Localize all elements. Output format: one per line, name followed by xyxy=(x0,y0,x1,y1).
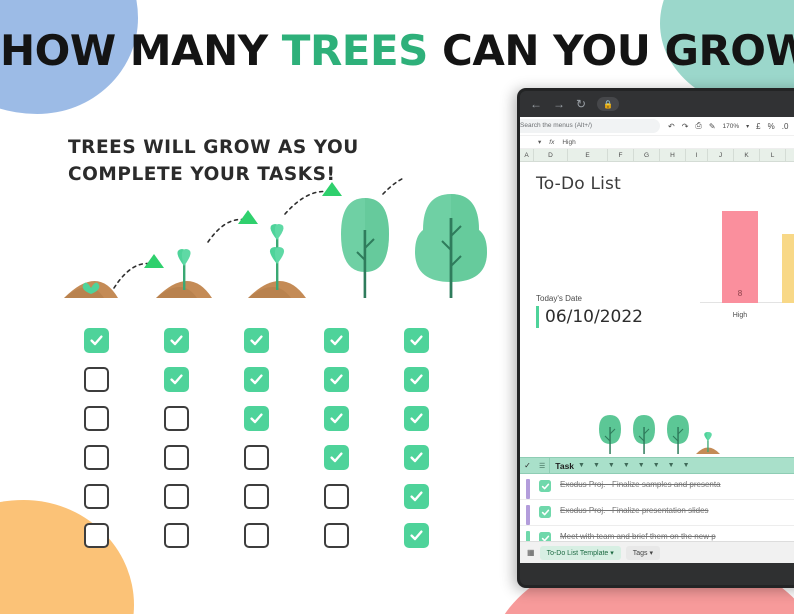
percent-icon[interactable]: % xyxy=(768,122,775,131)
task-priority-chart: Task 8HighM xyxy=(700,170,794,325)
checkbox-r2-c3[interactable] xyxy=(244,367,269,392)
filter-icon[interactable]: ▼ xyxy=(589,462,604,469)
checkbox-grid-row xyxy=(84,328,484,367)
seed-triangle-2-icon xyxy=(238,210,258,224)
filter-icon[interactable]: ▼ xyxy=(604,462,619,469)
arrow-4-icon xyxy=(383,178,428,194)
checkbox-r3-c4[interactable] xyxy=(324,406,349,431)
subtitle-line-1: TREES WILL GROW AS YOU xyxy=(68,134,359,161)
paint-format-icon[interactable]: ✎ xyxy=(709,122,716,131)
checkbox-grid[interactable] xyxy=(84,328,484,562)
checkbox-r5-c2[interactable] xyxy=(164,484,189,509)
chevron-down-icon[interactable]: ▾ xyxy=(746,123,749,130)
checkbox-r2-c4[interactable] xyxy=(324,367,349,392)
checkbox-r2-c2[interactable] xyxy=(164,367,189,392)
filter-icon[interactable]: ▼ xyxy=(679,462,694,469)
filter-icon[interactable]: ▼ xyxy=(574,462,589,469)
column-header-A[interactable]: A xyxy=(520,149,534,161)
stage-5-full-tree xyxy=(415,194,487,298)
row-task-text: Exodus Proj. Finalize samples and presen… xyxy=(560,479,721,490)
sheet-tab-tags[interactable]: Tags ▾ xyxy=(626,546,660,560)
stage-3-sprout-tall xyxy=(248,224,306,298)
column-header-I[interactable]: I xyxy=(686,149,708,161)
formula-bar[interactable]: ▾ fx High xyxy=(520,136,794,149)
lock-icon: 🔒 xyxy=(597,97,619,111)
column-header-F[interactable]: F xyxy=(608,149,634,161)
checkbox-grid-row xyxy=(84,367,484,406)
bar-value-label: 8 xyxy=(722,289,758,298)
column-header-L[interactable]: L xyxy=(760,149,786,161)
stage-4-young-tree xyxy=(341,198,389,298)
column-headers[interactable]: ADEFGHIJKL xyxy=(520,149,794,162)
column-header-H[interactable]: H xyxy=(660,149,686,161)
currency-icon[interactable]: £ xyxy=(756,122,760,131)
print-icon[interactable]: ⎙ xyxy=(695,121,701,131)
header-task-label: Task xyxy=(550,461,574,471)
checkbox-r6-c5[interactable] xyxy=(404,523,429,548)
bar-high: 8 xyxy=(722,211,758,303)
checkbox-grid-row xyxy=(84,484,484,523)
checkbox-r3-c5[interactable] xyxy=(404,406,429,431)
row-checkbox[interactable] xyxy=(539,506,551,518)
strip-tree-2 xyxy=(633,415,655,454)
spreadsheet-app: Search the menus (Alt+/) ↶ ↷ ⎙ ✎ 170% ▾ … xyxy=(520,117,794,563)
checkbox-r1-c4[interactable] xyxy=(324,328,349,353)
column-header-J[interactable]: J xyxy=(708,149,734,161)
redo-icon[interactable]: ↷ xyxy=(682,122,689,131)
checkbox-r6-c1[interactable] xyxy=(84,523,109,548)
tree-strip-svg xyxy=(520,412,794,457)
checkbox-r5-c1[interactable] xyxy=(84,484,109,509)
filter-icon[interactable]: ☰ xyxy=(535,462,549,470)
checkbox-r3-c3[interactable] xyxy=(244,406,269,431)
headline-highlight: TREES xyxy=(282,26,428,75)
name-box-caret-icon[interactable]: ▾ xyxy=(538,138,541,146)
row-task-text: Exodus Proj. Finalize presentation slide… xyxy=(560,505,709,516)
filter-icon[interactable]: ▼ xyxy=(619,462,634,469)
stage-1-seed-mound xyxy=(64,281,118,298)
stage-2-sprout xyxy=(156,249,212,298)
checkbox-r2-c5[interactable] xyxy=(404,367,429,392)
checkbox-r3-c2[interactable] xyxy=(164,406,189,431)
column-header-E[interactable]: E xyxy=(568,149,608,161)
checkbox-r1-c3[interactable] xyxy=(244,328,269,353)
menu-search-input[interactable]: Search the menus (Alt+/) xyxy=(520,119,660,133)
checkbox-r4-c1[interactable] xyxy=(84,445,109,470)
formula-value: High xyxy=(562,139,575,146)
date-value[interactable]: 06/10/2022 xyxy=(536,306,643,328)
sheet-tab-to-do-list-template[interactable]: To-Do List Template ▾ xyxy=(540,546,621,560)
checkbox-grid-row xyxy=(84,406,484,445)
checkbox-r4-c2[interactable] xyxy=(164,445,189,470)
growth-stages-svg xyxy=(60,178,510,323)
seed-triangle-1-icon xyxy=(144,254,164,268)
row-checkbox[interactable] xyxy=(539,480,551,492)
seed-triangle-3-icon xyxy=(322,182,342,196)
checkbox-r5-c4[interactable] xyxy=(324,484,349,509)
sheet-title: To-Do List xyxy=(536,174,621,194)
browser-window: ← → ↻ 🔒 Search the menus (Alt+/) ↶ ↷ ⎙ ✎… xyxy=(517,88,794,588)
bar-m xyxy=(782,234,794,303)
checkbox-r6-c2[interactable] xyxy=(164,523,189,548)
checkbox-r3-c1[interactable] xyxy=(84,406,109,431)
tree-strip-illustration xyxy=(520,412,794,457)
table-row[interactable]: Exodus Proj. Finalize presentation slide… xyxy=(520,500,794,526)
checkbox-r6-c3[interactable] xyxy=(244,523,269,548)
sheet-tab-bar: ▦ To-Do List Template ▾Tags ▾ xyxy=(520,541,794,563)
reload-icon[interactable]: ↻ xyxy=(576,98,586,110)
browser-toolbar: ← → ↻ 🔒 xyxy=(520,91,794,117)
all-sheets-grid-icon[interactable]: ▦ xyxy=(527,548,535,557)
headline-part2: CAN YOU GROW? xyxy=(428,26,794,75)
header-check-icon[interactable]: ✓ xyxy=(520,461,535,470)
sheet-canvas: To-Do List Today's Date 06/10/2022 Task … xyxy=(520,162,794,563)
sheet-toolbar: Search the menus (Alt+/) ↶ ↷ ⎙ ✎ 170% ▾ … xyxy=(520,117,794,136)
checkbox-grid-row xyxy=(84,523,484,562)
date-label: Today's Date xyxy=(536,294,582,303)
headline-part1: HOW MANY xyxy=(0,26,282,75)
bar-category-label: High xyxy=(722,312,758,319)
task-table-header[interactable]: ✓ ☰ Task ▼ ▼ ▼ ▼ ▼ ▼ ▼ ▼ xyxy=(520,457,794,474)
checkbox-r1-c2[interactable] xyxy=(164,328,189,353)
checkbox-r4-c4[interactable] xyxy=(324,445,349,470)
checkbox-r5-c5[interactable] xyxy=(404,484,429,509)
bar-category-label: M xyxy=(782,312,794,319)
poster-canvas: HOW MANY TREES CAN YOU GROW? TREES WILL … xyxy=(0,0,794,614)
forward-arrow-icon[interactable]: → xyxy=(553,98,565,110)
column-header-K[interactable]: K xyxy=(734,149,760,161)
decrease-decimal-icon[interactable]: .0 xyxy=(782,122,789,131)
page-title: HOW MANY TREES CAN YOU GROW? xyxy=(0,26,794,75)
strip-sprout-mound xyxy=(696,432,720,454)
filter-icon[interactable]: ▼ xyxy=(649,462,664,469)
row-priority-color xyxy=(526,505,530,525)
checkbox-r6-c4[interactable] xyxy=(324,523,349,548)
zoom-level-select[interactable]: 170% xyxy=(723,123,740,130)
fx-icon: fx xyxy=(549,139,554,146)
checkbox-grid-row xyxy=(84,445,484,484)
filter-icon[interactable]: ▼ xyxy=(664,462,679,469)
column-header-G[interactable]: G xyxy=(634,149,660,161)
checkbox-r2-c1[interactable] xyxy=(84,367,109,392)
row-priority-color xyxy=(526,479,530,499)
checkbox-r4-c5[interactable] xyxy=(404,445,429,470)
back-arrow-icon[interactable]: ← xyxy=(530,98,542,110)
checkbox-r4-c3[interactable] xyxy=(244,445,269,470)
checkbox-r1-c5[interactable] xyxy=(404,328,429,353)
sheet-toolbar-icons: ↶ ↷ ⎙ ✎ 170% ▾ £ % .0 .00 xyxy=(668,121,794,131)
checkbox-r5-c3[interactable] xyxy=(244,484,269,509)
filter-icon[interactable]: ▼ xyxy=(634,462,649,469)
table-row[interactable]: Exodus Proj. Finalize samples and presen… xyxy=(520,474,794,500)
undo-icon[interactable]: ↶ xyxy=(668,122,675,131)
column-header-D[interactable]: D xyxy=(534,149,568,161)
checkbox-r1-c1[interactable] xyxy=(84,328,109,353)
tree-growth-illustration xyxy=(60,178,510,323)
strip-tree-3 xyxy=(667,415,689,454)
strip-tree-1 xyxy=(599,415,621,454)
